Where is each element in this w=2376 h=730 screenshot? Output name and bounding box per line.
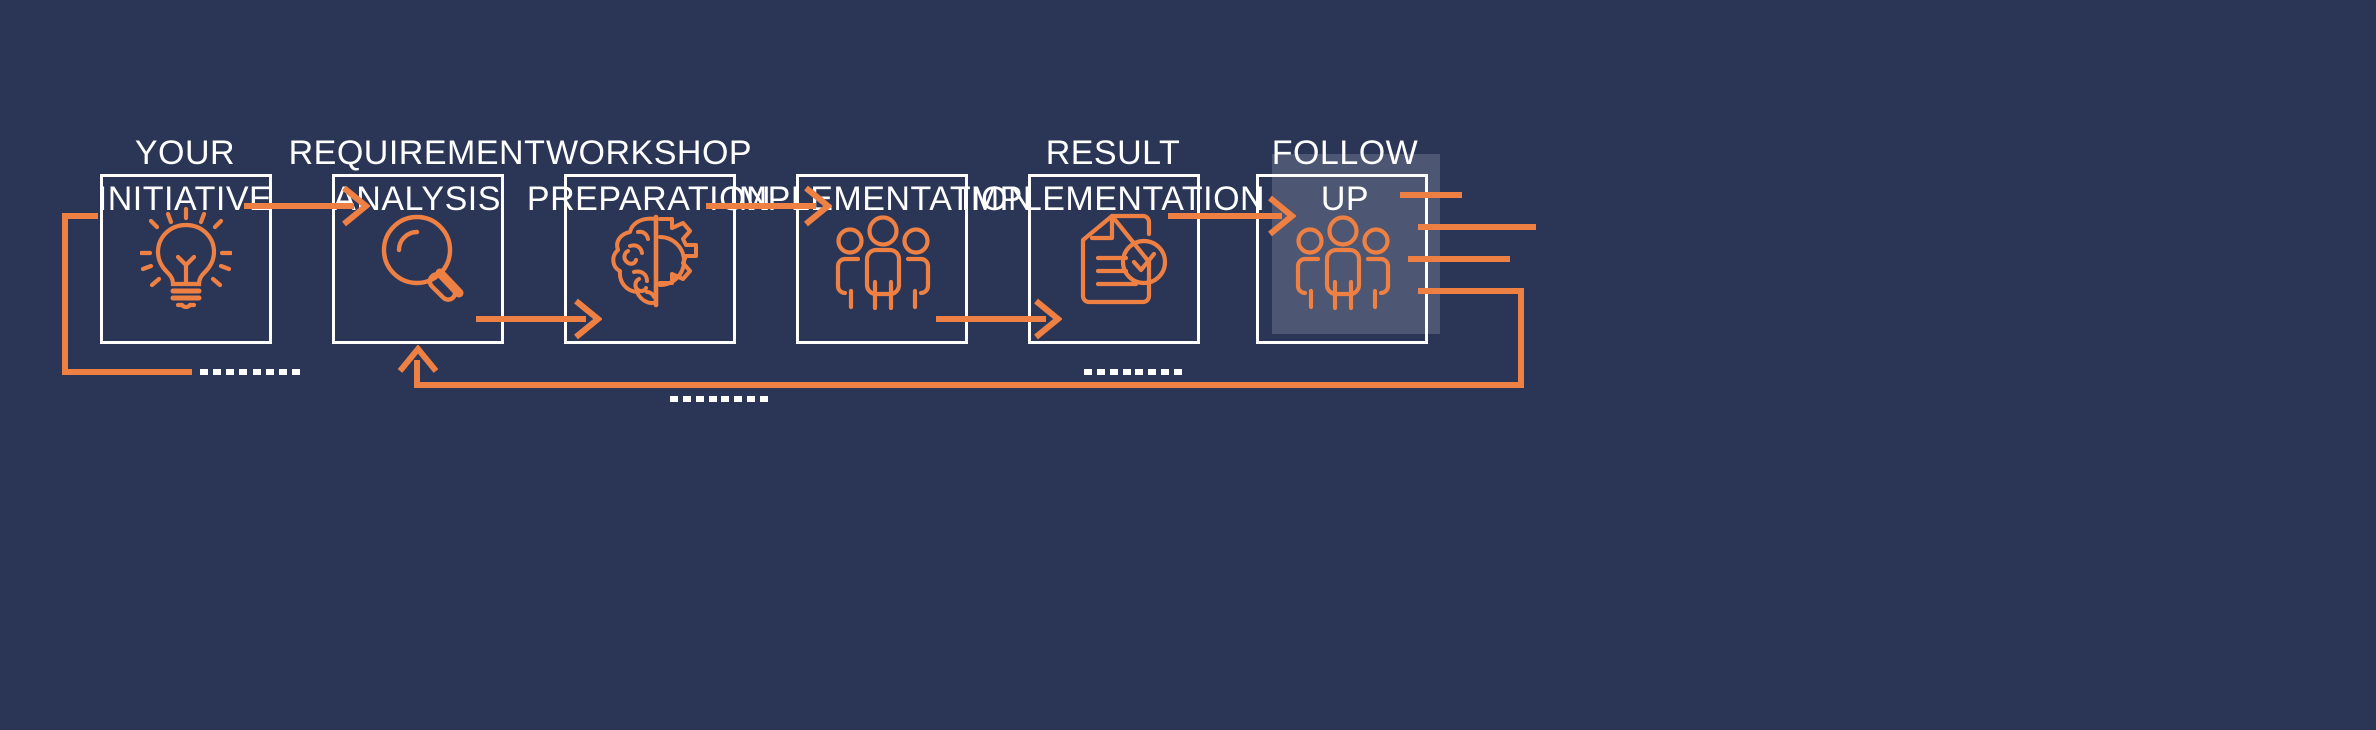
feedback-loop-bottom xyxy=(414,382,1524,388)
feedback-loop-right-vertical xyxy=(1518,288,1524,388)
output-line-1 xyxy=(1400,192,1462,198)
arrow-step2-to-step3-line xyxy=(476,316,586,322)
arrow-step3-to-step4-head xyxy=(802,184,832,228)
brain-gear-icon xyxy=(608,213,712,309)
dash-group-right xyxy=(1084,369,1182,375)
arrow-step1-to-step2-line xyxy=(244,203,354,209)
feedback-loop-arrow-head xyxy=(396,345,440,375)
output-line-2 xyxy=(1418,224,1536,230)
entry-bracket-bottom xyxy=(62,369,192,375)
feedback-loop-top xyxy=(1418,288,1524,294)
people-group-icon xyxy=(832,214,934,310)
entry-bracket-vertical xyxy=(62,213,68,375)
magnifier-icon xyxy=(376,210,472,308)
lightbulb-icon xyxy=(140,205,232,313)
document-check-icon xyxy=(1070,212,1170,310)
arrow-step5-to-step6-head xyxy=(1266,194,1296,238)
arrow-step4-to-step5-head xyxy=(1032,297,1062,341)
dash-group-center xyxy=(670,396,768,402)
arrow-step2-to-step3-head xyxy=(572,297,602,341)
dash-group-left xyxy=(200,369,300,375)
output-line-3 xyxy=(1408,256,1510,262)
arrow-step1-to-step2-head xyxy=(340,184,370,228)
arrow-step4-to-step5-line xyxy=(936,316,1046,322)
step-follow-up[interactable]: FOLLOW UP xyxy=(1180,0,1510,730)
arrow-step3-to-step4-line xyxy=(706,203,816,209)
process-diagram: YOUR INITIATIVE REQUIREMENT ANALYSIS xyxy=(0,0,2376,730)
people-group-icon xyxy=(1292,214,1394,310)
arrow-step5-to-step6-line xyxy=(1168,213,1282,219)
